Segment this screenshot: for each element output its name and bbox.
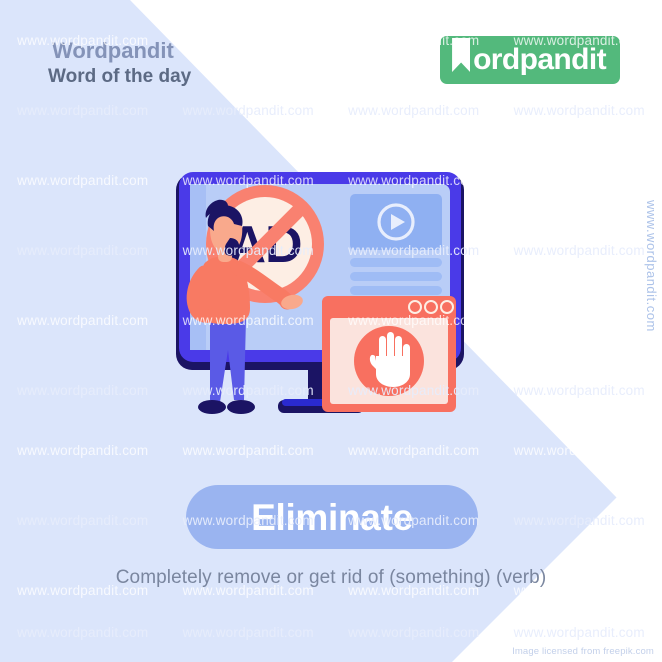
brand-title: Wordpandit <box>52 38 191 63</box>
word-of-the-day-card: AD <box>0 0 662 662</box>
bookmark-icon <box>450 32 472 78</box>
word-pill: Eliminate <box>186 485 478 549</box>
logo-text: ordpandit <box>473 45 606 75</box>
wordpandit-logo[interactable]: ordpandit <box>440 36 620 84</box>
ad-block-illustration: AD <box>170 168 500 438</box>
image-credit: Image licensed from freepik.com <box>512 646 654 657</box>
word-term: Eliminate <box>251 499 413 536</box>
header-subtitle: Word of the day <box>48 65 191 89</box>
header: Wordpandit Word of the day <box>48 38 191 89</box>
word-definition: Completely remove or get rid of (somethi… <box>0 567 662 589</box>
watermark-vertical: www.wordpandit.com <box>644 200 659 332</box>
